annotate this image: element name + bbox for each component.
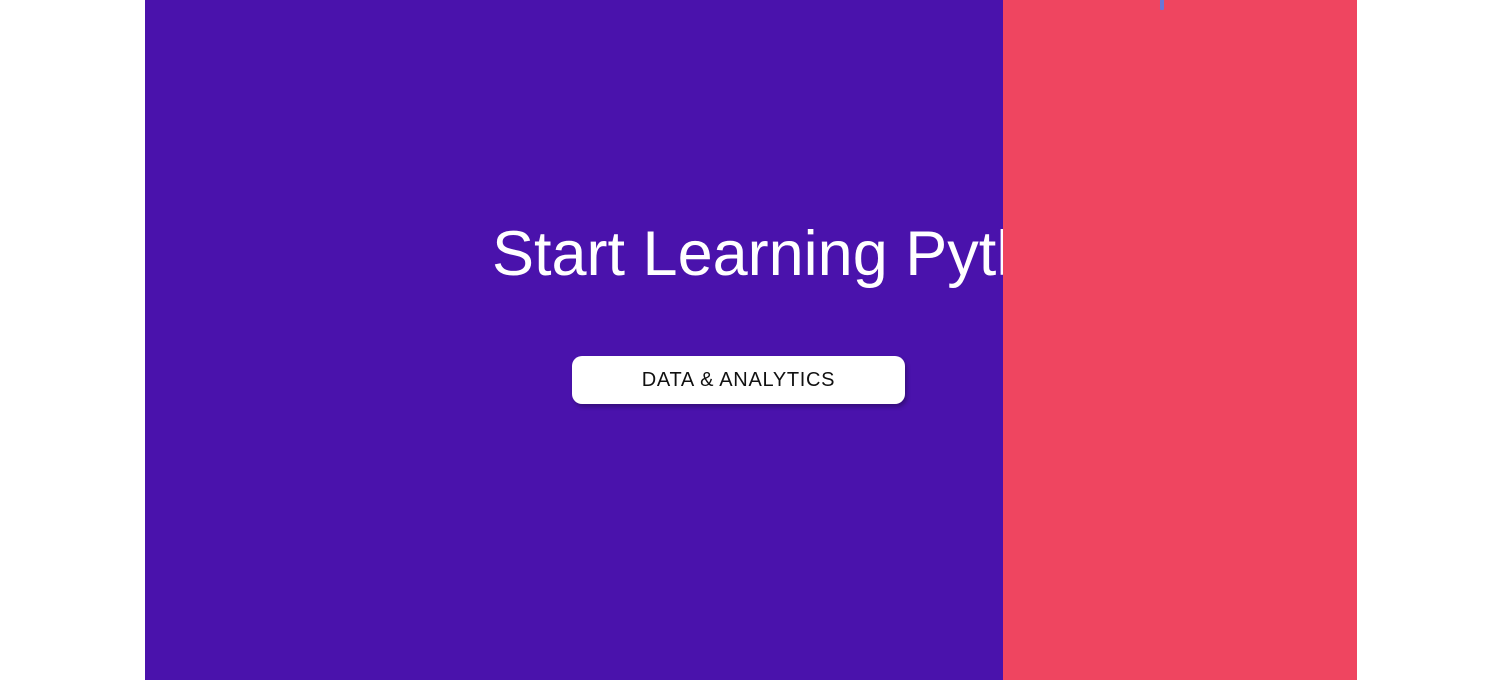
- data-and-analytics-button[interactable]: DATA & ANALYTICS: [572, 356, 905, 404]
- slide-canvas: Start Learning Python DATA & ANALYTICS: [0, 0, 1500, 680]
- hero-content: Start Learning Python DATA & ANALYTICS: [145, 0, 1003, 680]
- hero-panel: Start Learning Python DATA & ANALYTICS: [145, 0, 1003, 680]
- panel-row: Start Learning Python DATA & ANALYTICS: [145, 0, 1357, 680]
- edge-marker-icon: [1160, 0, 1164, 10]
- page-title: Start Learning Python: [492, 216, 1003, 292]
- side-panel: [1003, 0, 1357, 680]
